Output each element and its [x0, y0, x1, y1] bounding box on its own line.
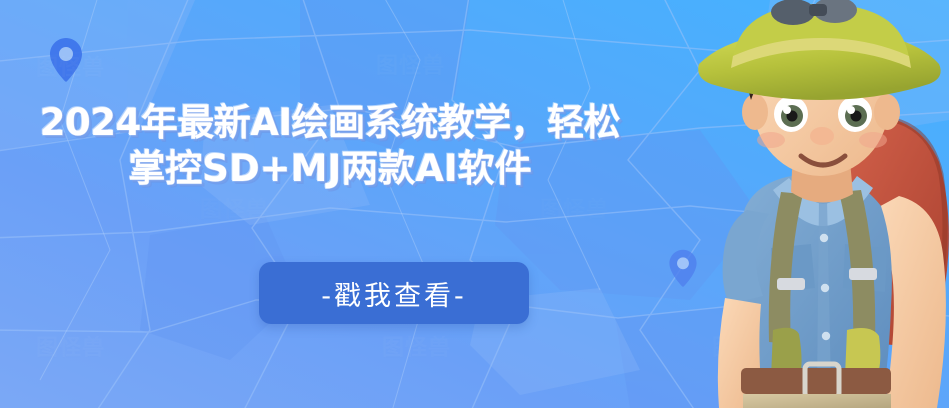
- cta-button[interactable]: -戳我查看-: [259, 262, 529, 324]
- map-background: [0, 0, 949, 408]
- headline-line-1: 2024年最新AI绘画系统教学，轻松: [0, 100, 660, 146]
- headline-line-2: 掌控SD+MJ两款AI软件: [0, 146, 660, 192]
- promo-banner: 图怪兽 图怪兽 图怪兽 图怪兽 图怪兽 图怪兽 图怪兽 图怪兽 2024年最新A…: [0, 0, 949, 408]
- headline: 2024年最新AI绘画系统教学，轻松 掌控SD+MJ两款AI软件: [0, 100, 660, 191]
